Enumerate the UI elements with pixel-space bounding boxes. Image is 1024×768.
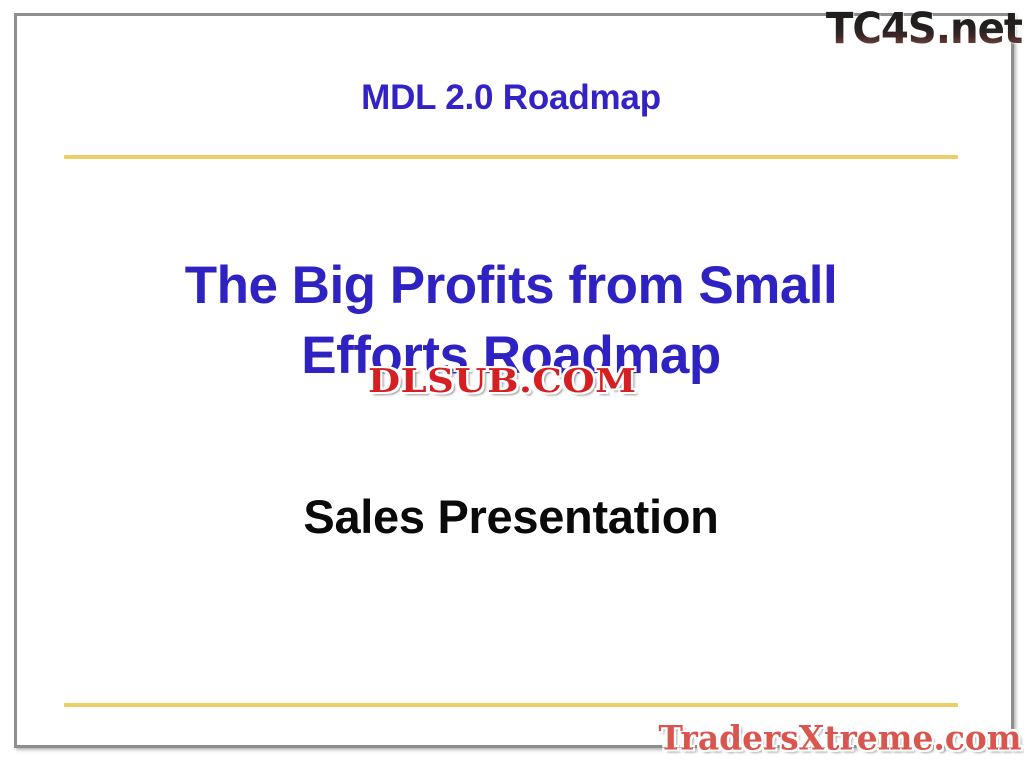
divider-top	[64, 155, 958, 159]
presentation-slide: MDL 2.0 Roadmap The Big Profits from Sma…	[0, 0, 1024, 768]
headline-line-1: The Big Profits from Small	[64, 251, 958, 321]
slide-title: MDL 2.0 Roadmap	[64, 78, 958, 118]
slide-subtitle: Sales Presentation	[64, 489, 958, 544]
divider-bottom	[64, 703, 958, 707]
headline-line-2: Efforts Roadmap	[64, 321, 958, 391]
slide-headline: The Big Profits from Small Efforts Roadm…	[64, 251, 958, 391]
